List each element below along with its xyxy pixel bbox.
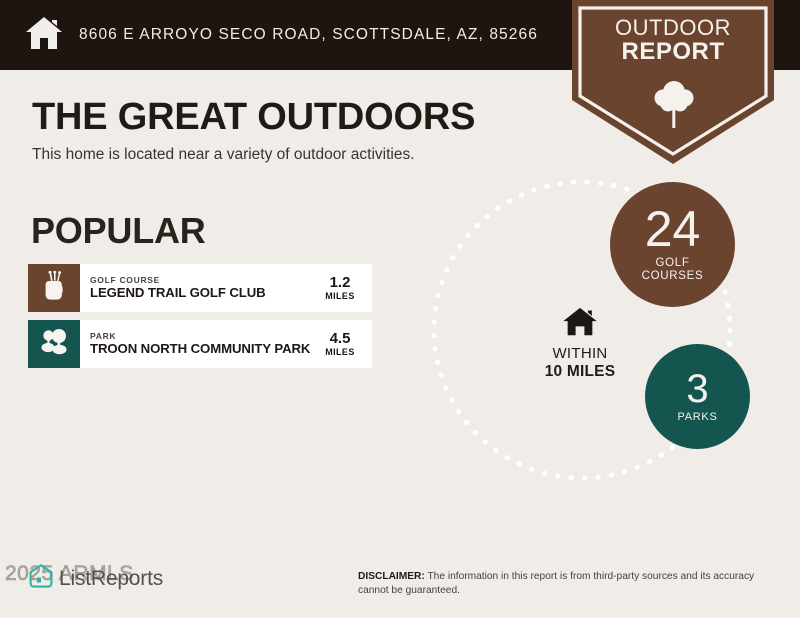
list-item-distance: 4.5 MILES (312, 320, 372, 368)
listreports-house-icon (28, 563, 54, 594)
within-radius-graphic: 24 GOLF COURSES 3 PARKS WITHIN 10 MILES (430, 172, 800, 492)
property-address: 8606 E ARROYO SECO ROAD, SCOTTSDALE, AZ,… (79, 26, 538, 44)
page-title: THE GREAT OUTDOORS (32, 96, 475, 139)
parks-count: 3 (686, 370, 708, 408)
disclaimer-label: DISCLAIMER: (358, 571, 425, 582)
golf-courses-label-line2: COURSES (642, 270, 704, 282)
list-item-category: GOLF COURSE (90, 276, 312, 285)
header-content: 8606 E ARROYO SECO ROAD, SCOTTSDALE, AZ,… (24, 0, 538, 70)
popular-heading: POPULAR (31, 210, 206, 252)
golf-courses-label: GOLF COURSES (642, 257, 704, 283)
list-item-name: LEGEND TRAIL GOLF CLUB (90, 286, 312, 301)
list-item[interactable]: PARK TROON NORTH COMMUNITY PARK 4.5 MILE… (28, 320, 372, 368)
list-item-category: PARK (90, 332, 312, 341)
within-line1: WITHIN (525, 346, 635, 363)
house-icon (24, 15, 64, 56)
within-radius-label: WITHIN 10 MILES (525, 307, 635, 380)
list-item[interactable]: GOLF COURSE LEGEND TRAIL GOLF CLUB 1.2 M… (28, 264, 372, 312)
outdoor-report-page: 8606 E ARROYO SECO ROAD, SCOTTSDALE, AZ,… (0, 0, 800, 618)
distance-value: 1.2 (330, 275, 351, 291)
golf-courses-label-line1: GOLF (655, 257, 689, 269)
within-line2: 10 MILES (525, 363, 635, 380)
disclaimer: DISCLAIMER: The information in this repo… (358, 570, 776, 598)
popular-list: GOLF COURSE LEGEND TRAIL GOLF CLUB 1.2 M… (28, 264, 372, 376)
list-item-text: PARK TROON NORTH COMMUNITY PARK (80, 320, 312, 368)
tree-icon (653, 78, 695, 130)
park-tile (28, 320, 80, 368)
distance-unit: MILES (325, 347, 355, 357)
page-subtitle: This home is located near a variety of o… (32, 146, 415, 164)
golf-courses-count: 24 (645, 206, 701, 254)
distance-unit: MILES (325, 291, 355, 301)
outdoor-report-badge: OUTDOOR REPORT (572, 0, 774, 166)
park-trees-icon (39, 328, 69, 361)
golf-courses-count-circle: 24 GOLF COURSES (610, 182, 735, 307)
parks-label: PARKS (678, 411, 718, 423)
distance-value: 4.5 (330, 331, 351, 347)
listreports-logo[interactable]: ListReports (28, 563, 163, 594)
golf-bag-icon (40, 271, 68, 306)
list-item-distance: 1.2 MILES (312, 264, 372, 312)
list-item-name: TROON NORTH COMMUNITY PARK (90, 342, 312, 357)
house-icon (525, 307, 635, 342)
parks-count-circle: 3 PARKS (645, 344, 750, 449)
listreports-logo-text: ListReports (59, 567, 163, 591)
golf-course-tile (28, 264, 80, 312)
list-item-text: GOLF COURSE LEGEND TRAIL GOLF CLUB (80, 264, 312, 312)
